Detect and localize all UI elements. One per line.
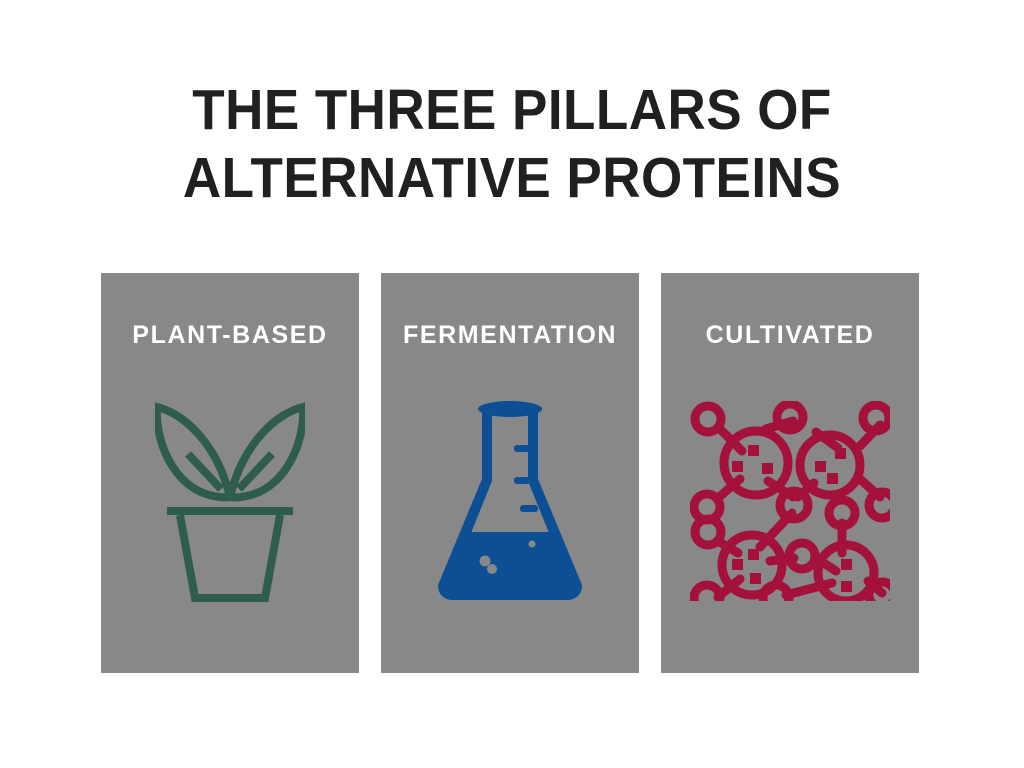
pillar-card-plant-based[interactable]: PLANT-BASED: [101, 273, 359, 673]
pillar-card-cultivated[interactable]: CULTIVATED: [661, 273, 919, 673]
page-title: THE THREE PILLARS OF ALTERNATIVE PROTEIN…: [0, 76, 1024, 212]
erlenmeyer-flask-icon: [381, 381, 639, 621]
slide-canvas: THE THREE PILLARS OF ALTERNATIVE PROTEIN…: [0, 0, 1024, 768]
pillar-label-plant-based: PLANT-BASED: [101, 321, 359, 350]
potted-plant-icon: [101, 381, 359, 621]
pillar-label-fermentation: FERMENTATION: [381, 321, 639, 350]
pillar-card-fermentation[interactable]: FERMENTATION: [381, 273, 639, 673]
pillar-label-cultivated: CULTIVATED: [661, 321, 919, 350]
cell-network-icon: [661, 381, 919, 621]
pillar-card-row: PLANT-BASED: [101, 273, 919, 673]
page-title-line-1: THE THREE PILLARS OF: [36, 76, 988, 144]
page-title-line-2: ALTERNATIVE PROTEINS: [36, 144, 988, 212]
